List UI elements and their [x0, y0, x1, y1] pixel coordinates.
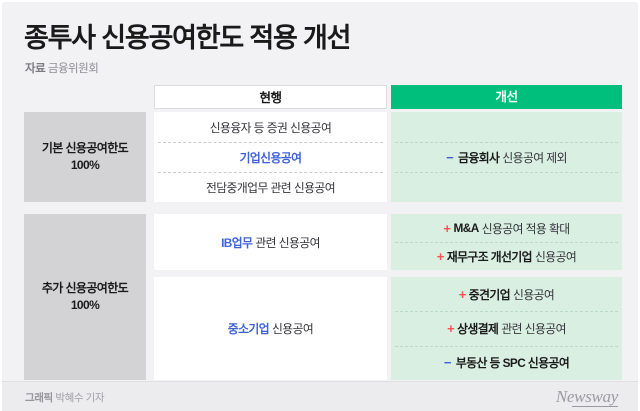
cell-current-basic: 신용융자 등 증권 신용공여 기업신용공여 전담중개업무 관련 신용공여 — [154, 112, 387, 202]
plus-icon: + — [459, 287, 466, 302]
item-strong: 재무구조 개선기업 — [447, 248, 532, 265]
row-label-additional-line1: 추가 신용공여한도 — [42, 281, 128, 295]
item-text: 전담중개업무 관련 신용공여 — [206, 179, 335, 196]
item-strong: 금융회사 — [458, 149, 499, 166]
item-strong: 중견기업 — [469, 286, 510, 303]
row-label-basic-limit: 기본 신용공여한도 100% — [24, 112, 146, 202]
cell-improved-additional-group1: + M&A 신용공여 적용 확대 + 재무구조 개선기업 신용공여 — [391, 214, 622, 270]
plus-icon: + — [443, 221, 450, 236]
column-header-improved: 개선 — [391, 85, 622, 109]
row-label-basic-text: 기본 신용공여한도 100% — [42, 140, 128, 175]
plus-icon: + — [447, 321, 454, 336]
item-text: 관련 신용공여 — [501, 320, 566, 337]
footer-bar: 그래픽 박혜수 기자 Newsway — [2, 381, 638, 411]
row-label-basic-line2: 100% — [71, 158, 99, 172]
item-text: 관련 신용공여 — [255, 234, 320, 251]
list-item: − 부동산 등 SPC 신용공여 — [391, 346, 622, 380]
item-text: 부동산 등 SPC 신용공여 — [456, 354, 569, 371]
credit-label: 그래픽 — [25, 392, 53, 404]
graphic-credit: 그래픽 박혜수 기자 — [25, 390, 104, 405]
list-item-spacer — [391, 112, 622, 142]
newsway-logo-underline — [572, 406, 618, 407]
minus-icon: − — [446, 150, 453, 165]
item-strong: 중소기업 — [228, 320, 269, 337]
item-text: 신용융자 등 증권 신용공여 — [210, 119, 332, 136]
item-text: 신용공여 제외 — [502, 149, 567, 166]
row-label-basic-line1: 기본 신용공여한도 — [42, 141, 128, 155]
list-item: 신용융자 등 증권 신용공여 — [154, 112, 387, 142]
source-name: 금융위원회 — [48, 63, 98, 75]
cell-improved-basic: − 금융회사 신용공여 제외 — [391, 112, 622, 202]
list-item: − 금융회사 신용공여 제외 — [391, 142, 622, 172]
cell-current-additional-ib: IB업무 관련 신용공여 — [154, 214, 387, 270]
column-header-current: 현행 — [154, 85, 387, 109]
list-item-spacer — [391, 172, 622, 202]
item-text: 신용공여 — [513, 286, 554, 303]
list-item: + M&A 신용공여 적용 확대 — [391, 214, 622, 242]
item-strong: M&A — [453, 221, 478, 235]
row-label-additional-line2: 100% — [71, 298, 99, 312]
item-strong: IB업무 — [221, 234, 252, 251]
cell-current-additional-sme: 중소기업 신용공여 — [154, 277, 387, 380]
item-strong: 기업신용공여 — [240, 149, 302, 166]
list-item: 전담중개업무 관련 신용공여 — [154, 172, 387, 202]
page-title: 종투사 신용공여한도 적용 개선 — [24, 16, 350, 55]
item-text: 신용공여 적용 확대 — [482, 220, 570, 237]
row-label-additional-limit: 추가 신용공여한도 100% — [24, 214, 146, 380]
list-item: 기업신용공여 — [154, 142, 387, 172]
list-item: + 중견기업 신용공여 — [391, 277, 622, 311]
infographic-canvas: 종투사 신용공여한도 적용 개선 자료 금융위원회 현행 개선 기본 신용공여한… — [0, 0, 640, 411]
list-item: + 상생결제 관련 신용공여 — [391, 311, 622, 345]
cell-improved-additional-group2: + 중견기업 신용공여 + 상생결제 관련 신용공여 − 부동산 등 SPC 신… — [391, 277, 622, 380]
item-text: 신용공여 — [535, 248, 576, 265]
list-item: 중소기업 신용공여 — [154, 277, 387, 380]
list-item: IB업무 관련 신용공여 — [154, 214, 387, 270]
item-text: 신용공여 — [272, 320, 313, 337]
row-label-additional-text: 추가 신용공여한도 100% — [42, 280, 128, 315]
item-strong: 상생결제 — [457, 320, 498, 337]
source-label: 자료 — [25, 63, 45, 75]
plus-icon: + — [437, 249, 444, 264]
credit-name: 박혜수 기자 — [55, 392, 104, 404]
newsway-logo: Newsway — [556, 387, 618, 407]
list-item: + 재무구조 개선기업 신용공여 — [391, 242, 622, 270]
minus-icon: − — [444, 355, 451, 370]
source-line: 자료 금융위원회 — [25, 60, 98, 76]
